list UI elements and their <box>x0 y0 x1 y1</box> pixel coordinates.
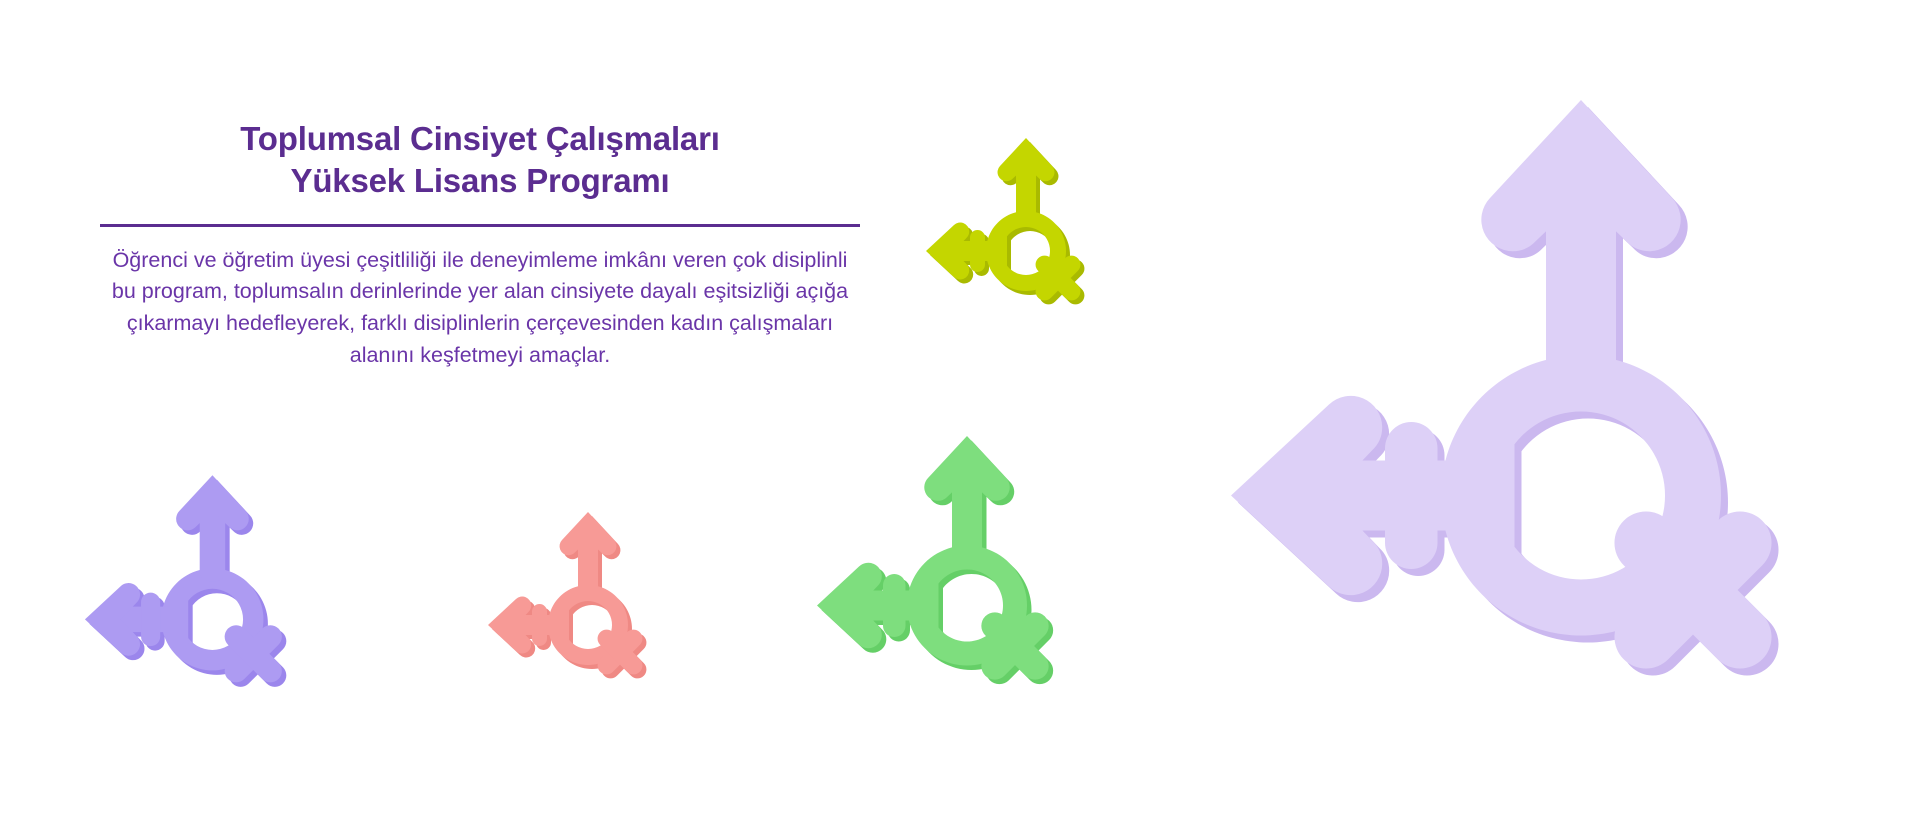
transgender-symbol-large-lavender <box>1168 58 1868 758</box>
program-description: Öğrenci ve öğretim üyesi çeşitliliği ile… <box>99 245 861 371</box>
title-divider <box>100 224 860 227</box>
transgender-symbol-lime <box>908 126 1108 326</box>
transgender-symbol-pink <box>470 500 670 700</box>
transgender-symbol-green <box>790 418 1090 718</box>
transgender-symbol-periwinkle <box>62 460 317 715</box>
intro-text-panel: Toplumsal Cinsiyet Çalışmaları Yüksek Li… <box>96 118 864 371</box>
poster-canvas: Toplumsal Cinsiyet Çalışmaları Yüksek Li… <box>0 0 1920 817</box>
page-title: Toplumsal Cinsiyet Çalışmaları Yüksek Li… <box>96 118 864 202</box>
